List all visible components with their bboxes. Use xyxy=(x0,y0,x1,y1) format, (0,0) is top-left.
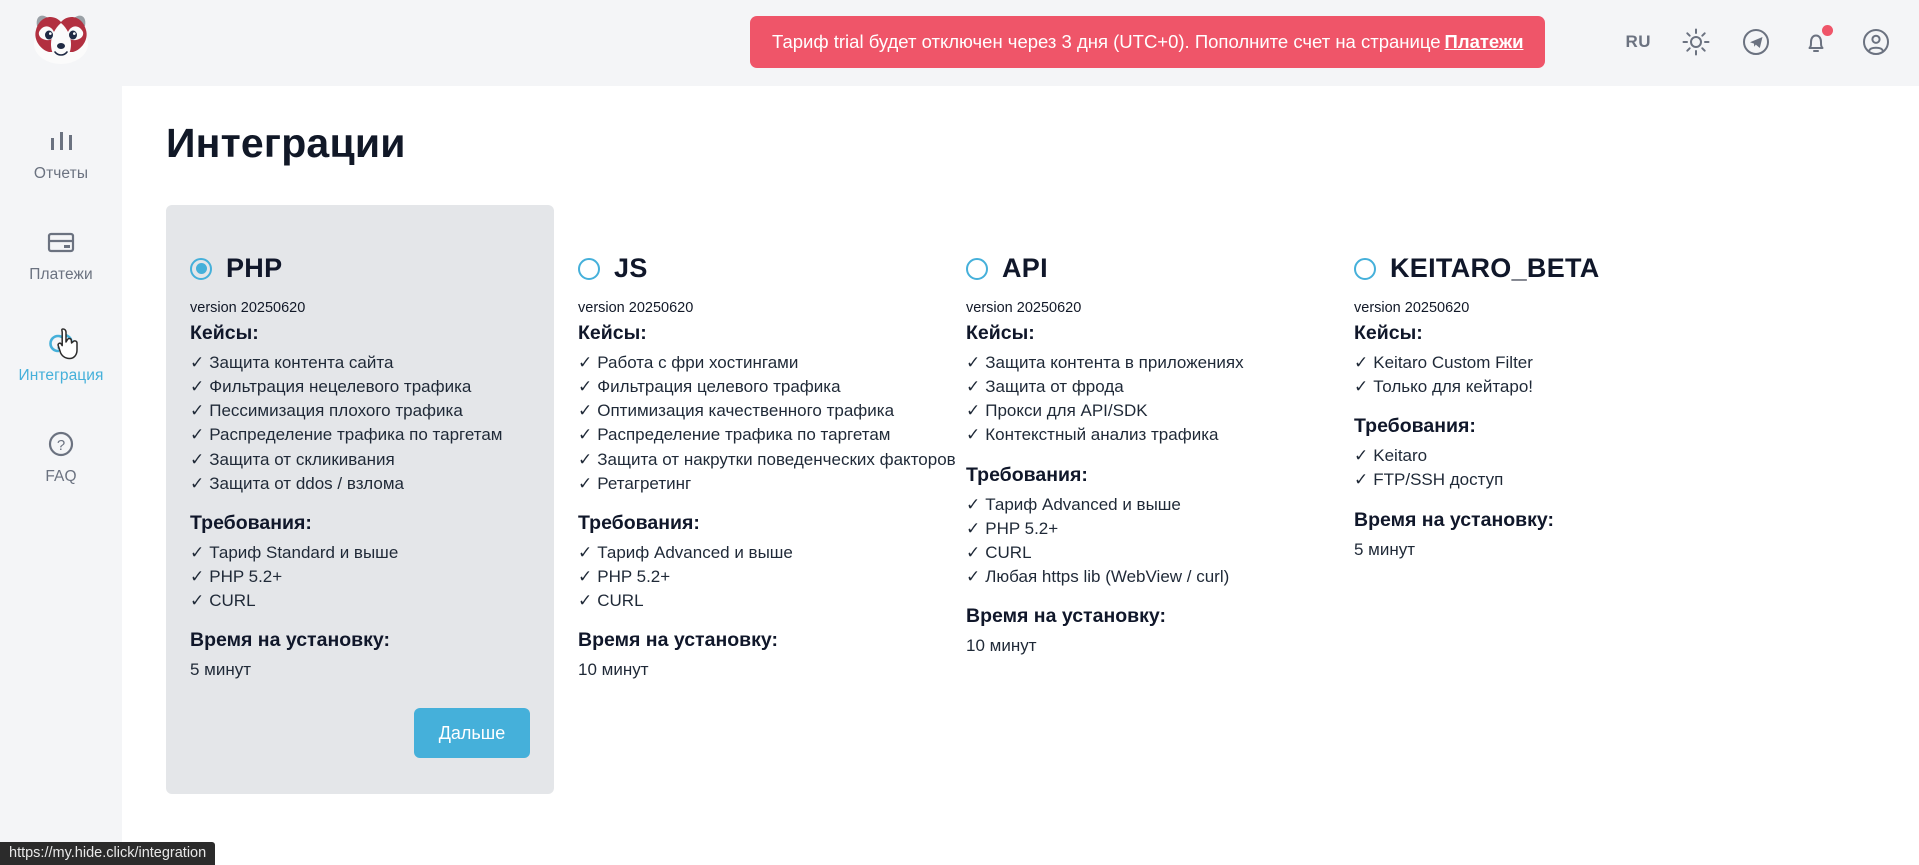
sidebar-item-integration[interactable]: Интеграция xyxy=(0,314,122,393)
cases-item: ✓Защита от скликивания xyxy=(190,448,530,472)
check-icon: ✓ xyxy=(578,401,592,420)
card-title: KEITARO_BETA xyxy=(1390,253,1600,284)
cases-heading: Кейсы: xyxy=(190,322,530,345)
cases-item: ✓Распределение трафика по таргетам xyxy=(578,423,918,447)
radio-dot xyxy=(196,263,207,274)
cases-item: ✓Защита от накрутки поведенческих фактор… xyxy=(578,448,918,472)
requirements-item: ✓PHP 5.2+ xyxy=(966,517,1306,541)
sidebar-item-label: Интеграция xyxy=(18,367,103,385)
check-icon: ✓ xyxy=(578,543,592,562)
check-icon: ✓ xyxy=(966,495,980,514)
cases-item: ✓Только для кейтаро! xyxy=(1354,375,1694,399)
card-version: version 20250620 xyxy=(966,300,1306,316)
cases-item: ✓Фильтрация нецелевого трафика xyxy=(190,375,530,399)
install-time-value: 5 минут xyxy=(1354,538,1694,562)
requirements-item-label: CURL xyxy=(209,591,255,610)
main-area: Тариф trial будет отключен через 3 дня (… xyxy=(122,0,1919,865)
card-version: version 20250620 xyxy=(578,300,918,316)
integration-card[interactable]: KEITARO_BETAversion 20250620Кейсы:✓Keita… xyxy=(1330,205,1718,588)
requirements-item-label: Тариф Advanced и выше xyxy=(597,543,793,562)
requirements-item: ✓FTP/SSH доступ xyxy=(1354,468,1694,492)
install-time-heading: Время на установку: xyxy=(190,629,530,652)
check-icon: ✓ xyxy=(578,474,592,493)
requirements-item-label: PHP 5.2+ xyxy=(209,567,282,586)
cases-item-label: Keitaro Custom Filter xyxy=(1373,353,1533,372)
check-icon: ✓ xyxy=(190,543,204,562)
cases-item: ✓Фильтрация целевого трафика xyxy=(578,375,918,399)
check-icon: ✓ xyxy=(578,377,592,396)
cases-item: ✓Работа с фри хостингами xyxy=(578,351,918,375)
check-icon: ✓ xyxy=(190,567,204,586)
cases-item-label: Защита от фрода xyxy=(985,377,1123,396)
cases-item-label: Фильтрация целевого трафика xyxy=(597,377,840,396)
requirements-item-label: FTP/SSH доступ xyxy=(1373,470,1503,489)
requirements-item-label: CURL xyxy=(985,543,1031,562)
card-header: API xyxy=(966,253,1306,284)
cases-item: ✓Контекстный анализ трафика xyxy=(966,423,1306,447)
requirements-item-label: PHP 5.2+ xyxy=(985,519,1058,538)
requirements-heading: Требования: xyxy=(578,512,918,535)
card-title: API xyxy=(1002,253,1048,284)
install-time-heading: Время на установку: xyxy=(966,605,1306,628)
trial-expiry-banner: Тариф trial будет отключен через 3 дня (… xyxy=(750,16,1545,68)
check-icon: ✓ xyxy=(1354,470,1368,489)
check-icon: ✓ xyxy=(966,425,980,444)
raccoon-logo[interactable] xyxy=(29,10,93,66)
cases-item: ✓Keitaro Custom Filter xyxy=(1354,351,1694,375)
check-icon: ✓ xyxy=(578,425,592,444)
integration-card[interactable]: JSversion 20250620Кейсы:✓Работа с фри хо… xyxy=(554,205,942,708)
check-icon: ✓ xyxy=(190,450,204,469)
banner-text: Тариф trial будет отключен через 3 дня (… xyxy=(772,31,1441,53)
page-title: Интеграции xyxy=(166,120,1919,167)
sidebar-item-reports[interactable]: Отчеты xyxy=(0,112,122,191)
check-icon: ✓ xyxy=(966,543,980,562)
topbar: Тариф trial будет отключен через 3 дня (… xyxy=(122,0,1919,86)
cases-item-label: Только для кейтаро! xyxy=(1373,377,1533,396)
check-icon: ✓ xyxy=(966,377,980,396)
check-icon: ✓ xyxy=(1354,353,1368,372)
cases-item: ✓Защита от фрода xyxy=(966,375,1306,399)
check-icon: ✓ xyxy=(1354,446,1368,465)
banner-payments-link[interactable]: Платежи xyxy=(1445,31,1524,53)
requirements-item: ✓Любая https lib (WebView / curl) xyxy=(966,565,1306,589)
requirements-item-label: PHP 5.2+ xyxy=(597,567,670,586)
cases-heading: Кейсы: xyxy=(966,322,1306,345)
cases-heading: Кейсы: xyxy=(1354,322,1694,345)
cases-item-label: Прокси для API/SDK xyxy=(985,401,1147,420)
check-icon: ✓ xyxy=(190,591,204,610)
check-icon: ✓ xyxy=(966,519,980,538)
requirements-item: ✓CURL xyxy=(578,589,918,613)
card-header: JS xyxy=(578,253,918,284)
radio-button[interactable] xyxy=(966,258,988,280)
check-icon: ✓ xyxy=(578,567,592,586)
check-icon: ✓ xyxy=(190,474,204,493)
cases-item: ✓Прокси для API/SDK xyxy=(966,399,1306,423)
card-title: JS xyxy=(614,253,648,284)
app-root: Отчеты Платежи xyxy=(0,0,1919,865)
cases-item: ✓Защита контента в приложениях xyxy=(966,351,1306,375)
check-icon: ✓ xyxy=(1354,377,1368,396)
install-time-value: 10 минут xyxy=(966,634,1306,658)
notification-badge-dot xyxy=(1822,25,1833,36)
integration-card[interactable]: APIversion 20250620Кейсы:✓Защита контент… xyxy=(942,205,1330,684)
cases-item-label: Фильтрация нецелевого трафика xyxy=(209,377,471,396)
cases-item: ✓Распределение трафика по таргетам xyxy=(190,423,530,447)
card-title: PHP xyxy=(226,253,282,284)
check-icon: ✓ xyxy=(190,377,204,396)
requirements-item-label: CURL xyxy=(597,591,643,610)
cases-item-label: Защита контента сайта xyxy=(209,353,393,372)
cases-item-label: Защита от скликивания xyxy=(209,450,394,469)
requirements-item: ✓CURL xyxy=(190,589,530,613)
next-button[interactable]: Дальше xyxy=(414,708,530,758)
cases-item-label: Защита контента в приложениях xyxy=(985,353,1243,372)
requirements-heading: Требования: xyxy=(966,464,1306,487)
content-area: Интеграции PHPversion 20250620Кейсы:✓Защ… xyxy=(122,86,1919,865)
check-icon: ✓ xyxy=(190,353,204,372)
radio-button[interactable] xyxy=(190,258,212,280)
status-bar-url: https://my.hide.click/integration xyxy=(0,842,215,865)
cases-item: ✓Пессимизация плохого трафика xyxy=(190,399,530,423)
cases-item-label: Защита от накрутки поведенческих факторо… xyxy=(597,450,955,469)
requirements-item: ✓Keitaro xyxy=(1354,444,1694,468)
install-time-heading: Время на установку: xyxy=(1354,509,1694,532)
card-version: version 20250620 xyxy=(1354,300,1694,316)
svg-text:?: ? xyxy=(57,437,65,454)
requirements-item-label: Тариф Advanced и выше xyxy=(985,495,1181,514)
requirements-item: ✓Тариф Advanced и выше xyxy=(578,541,918,565)
card-version: version 20250620 xyxy=(190,300,530,316)
cases-item: ✓Защита контента сайта xyxy=(190,351,530,375)
check-icon: ✓ xyxy=(578,591,592,610)
cases-item-label: Контекстный анализ трафика xyxy=(985,425,1218,444)
requirements-item-label: Keitaro xyxy=(1373,446,1427,465)
sidebar-item-label: Отчеты xyxy=(34,165,88,183)
requirements-item: ✓CURL xyxy=(966,541,1306,565)
install-time-heading: Время на установку: xyxy=(578,629,918,652)
sidebar-item-label: FAQ xyxy=(45,468,76,486)
cases-item-label: Пессимизация плохого трафика xyxy=(209,401,463,420)
card-header: KEITARO_BETA xyxy=(1354,253,1694,284)
requirements-heading: Требования: xyxy=(1354,415,1694,438)
link-chain-icon xyxy=(44,326,78,360)
card-header: PHP xyxy=(190,253,530,284)
sidebar-item-payments[interactable]: Платежи xyxy=(0,213,122,292)
cases-item-label: Работа с фри хостингами xyxy=(597,353,798,372)
sun-icon[interactable] xyxy=(1681,27,1711,57)
sidebar-nav: Отчеты Платежи xyxy=(0,112,122,516)
cases-item: ✓Защита от ddos / взлома xyxy=(190,472,530,496)
sidebar-item-label: Платежи xyxy=(29,266,93,284)
cases-item: ✓Ретагретинг xyxy=(578,472,918,496)
language-switcher[interactable]: RU xyxy=(1625,32,1651,52)
requirements-heading: Требования: xyxy=(190,512,530,535)
cases-item-label: Оптимизация качественного трафика xyxy=(597,401,894,420)
cases-item: ✓Оптимизация качественного трафика xyxy=(578,399,918,423)
requirements-item-label: Любая https lib (WebView / curl) xyxy=(985,567,1229,586)
check-icon: ✓ xyxy=(966,401,980,420)
bell-icon[interactable] xyxy=(1801,27,1831,57)
cases-heading: Кейсы: xyxy=(578,322,918,345)
check-icon: ✓ xyxy=(190,401,204,420)
check-icon: ✓ xyxy=(578,353,592,372)
sidebar: Отчеты Платежи xyxy=(0,0,122,865)
user-account-icon[interactable] xyxy=(1861,27,1891,57)
cases-item-label: Распределение трафика по таргетам xyxy=(597,425,890,444)
question-circle-icon: ? xyxy=(44,427,78,461)
check-icon: ✓ xyxy=(190,425,204,444)
integration-card[interactable]: PHPversion 20250620Кейсы:✓Защита контент… xyxy=(166,205,554,794)
topbar-actions: RU xyxy=(1625,0,1891,76)
check-icon: ✓ xyxy=(578,450,592,469)
credit-card-icon xyxy=(44,225,78,259)
requirements-item-label: Тариф Standard и выше xyxy=(209,543,398,562)
radio-button[interactable] xyxy=(578,258,600,280)
requirements-item: ✓PHP 5.2+ xyxy=(190,565,530,589)
cases-item-label: Распределение трафика по таргетам xyxy=(209,425,502,444)
sidebar-item-faq[interactable]: ? FAQ xyxy=(0,415,122,494)
install-time-value: 5 минут xyxy=(190,658,530,682)
check-icon: ✓ xyxy=(966,353,980,372)
cases-item-label: Ретагретинг xyxy=(597,474,691,493)
telegram-icon[interactable] xyxy=(1741,27,1771,57)
requirements-item: ✓PHP 5.2+ xyxy=(578,565,918,589)
integration-cards: PHPversion 20250620Кейсы:✓Защита контент… xyxy=(166,205,1919,794)
radio-button[interactable] xyxy=(1354,258,1376,280)
check-icon: ✓ xyxy=(966,567,980,586)
install-time-value: 10 минут xyxy=(578,658,918,682)
bar-chart-icon xyxy=(44,124,78,158)
requirements-item: ✓Тариф Standard и выше xyxy=(190,541,530,565)
requirements-item: ✓Тариф Advanced и выше xyxy=(966,493,1306,517)
cases-item-label: Защита от ddos / взлома xyxy=(209,474,404,493)
